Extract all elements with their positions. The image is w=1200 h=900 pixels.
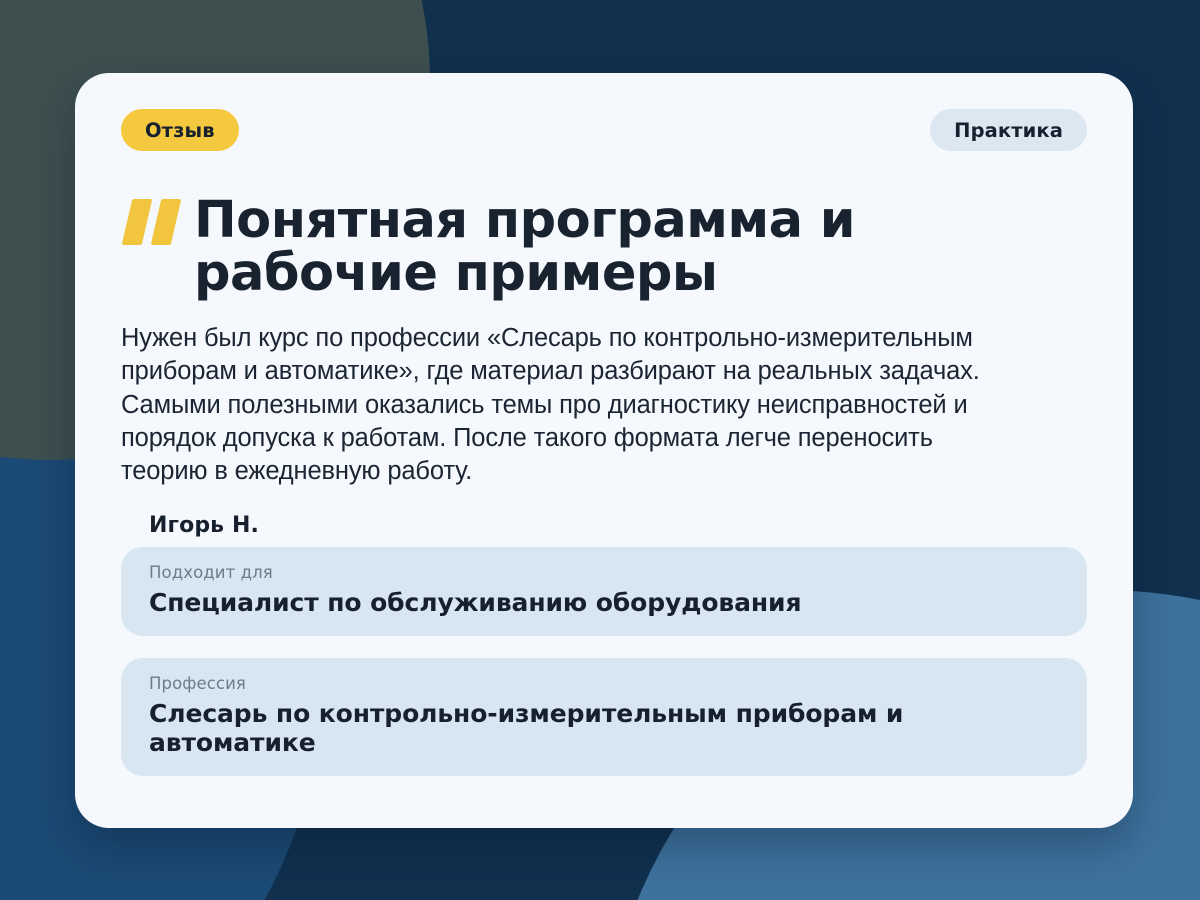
review-card: Отзыв Практика Понятная программа и рабо… [75, 73, 1133, 828]
badge-review-kind[interactable]: Отзыв [121, 109, 239, 151]
screenshot-stage: Отзыв Практика Понятная программа и рабо… [0, 0, 1200, 900]
review-body-text: Нужен был курс по профессии «Слесарь по … [121, 322, 1021, 488]
badge-course-format[interactable]: Практика [930, 109, 1087, 151]
info-value: Слесарь по контрольно-измерительным приб… [149, 699, 1059, 757]
review-heading: Понятная программа и рабочие примеры [194, 194, 1087, 300]
heading-block: Понятная программа и рабочие примеры [121, 194, 1087, 300]
info-label: Профессия [149, 674, 1059, 693]
info-card-profession: Профессия Слесарь по контрольно-измерите… [121, 658, 1087, 776]
info-card-suitable-for: Подходит для Специалист по обслуживанию … [121, 547, 1087, 636]
info-value: Специалист по обслуживанию оборудования [149, 588, 1059, 617]
review-author-name: Игорь Н. [149, 513, 1087, 538]
info-label: Подходит для [149, 563, 1059, 582]
quote-mark-icon [123, 199, 185, 247]
badge-row: Отзыв Практика [121, 108, 1087, 152]
